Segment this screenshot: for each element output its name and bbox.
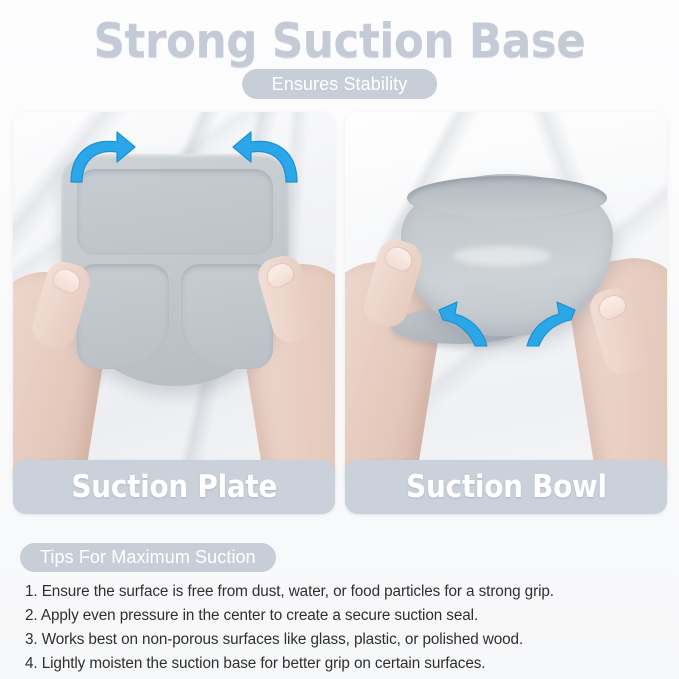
bowl-rim [407, 176, 607, 220]
bowl-highlight [453, 246, 551, 266]
suction-arrow-left-icon [65, 130, 137, 186]
caption-suction-bowl: Suction Bowl [345, 460, 667, 514]
suction-arrow-right-icon [231, 130, 303, 186]
tip-item: 3. Works best on non-porous surfaces lik… [25, 628, 659, 652]
subtitle-badge: Ensures Stability [242, 69, 438, 99]
plate-compartment-bottom-left [77, 264, 169, 369]
panel-suction-plate [13, 112, 335, 490]
header: Strong Suction Base Ensures Stability [0, 0, 679, 108]
thumbnail-right [596, 292, 628, 322]
thumbnail-left [383, 244, 415, 274]
thumbnail-right [264, 260, 296, 290]
tips-list: 1. Ensure the surface is free from dust,… [25, 580, 659, 676]
page-title: Strong Suction Base [24, 16, 655, 68]
suction-plate-product [61, 154, 289, 386]
tip-item: 2. Apply even pressure in the center to … [25, 604, 659, 628]
suction-arrow-left-icon [435, 298, 497, 350]
suction-arrow-right-icon [517, 298, 579, 350]
infographic-page: Strong Suction Base Ensures Stability [0, 0, 679, 679]
caption-suction-plate: Suction Plate [13, 460, 335, 514]
tip-item: 4. Lightly moisten the suction base for … [25, 652, 659, 676]
product-panels [0, 112, 679, 502]
tips-heading-badge: Tips For Maximum Suction [20, 543, 276, 572]
caption-label: Suction Plate [71, 469, 277, 505]
panel-suction-bowl [345, 112, 667, 490]
thumbnail-left [51, 266, 83, 296]
caption-label: Suction Bowl [406, 469, 607, 505]
tip-item: 1. Ensure the surface is free from dust,… [25, 580, 659, 604]
